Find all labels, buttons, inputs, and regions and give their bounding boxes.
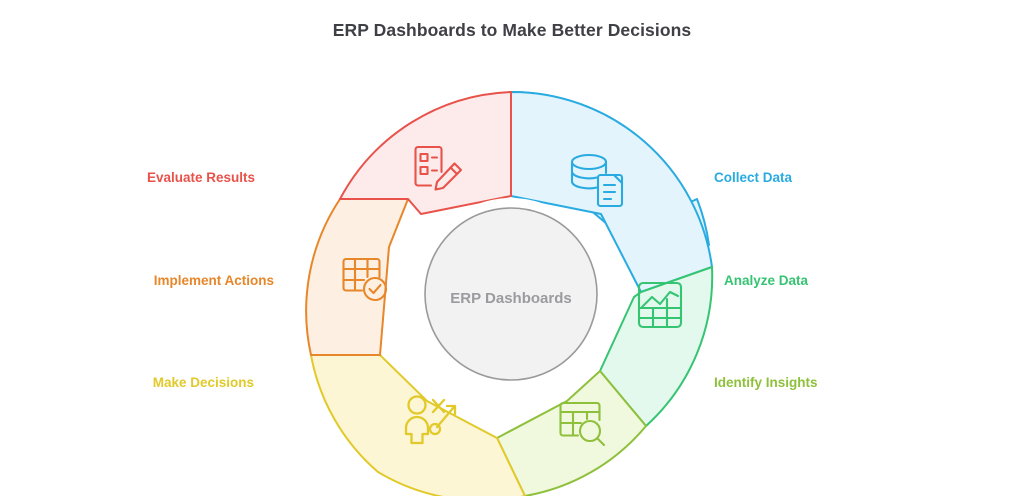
label-identify-insights[interactable]: Identify Insights	[714, 376, 818, 390]
cycle-diagram: ERP Dashboards	[0, 0, 1024, 496]
center-label: ERP Dashboards	[450, 290, 571, 307]
segment-implement-actions[interactable]	[306, 199, 408, 355]
segment-evaluate-results[interactable]	[340, 92, 511, 214]
label-make-decisions[interactable]: Make Decisions	[0, 376, 254, 390]
label-implement-actions[interactable]: Implement Actions	[0, 274, 274, 288]
segment-implement-actions-shape[interactable]	[306, 199, 408, 355]
label-evaluate-results[interactable]: Evaluate Results	[0, 171, 255, 185]
label-analyze-data[interactable]: Analyze Data	[724, 274, 808, 288]
label-collect-data[interactable]: Collect Data	[714, 171, 792, 185]
